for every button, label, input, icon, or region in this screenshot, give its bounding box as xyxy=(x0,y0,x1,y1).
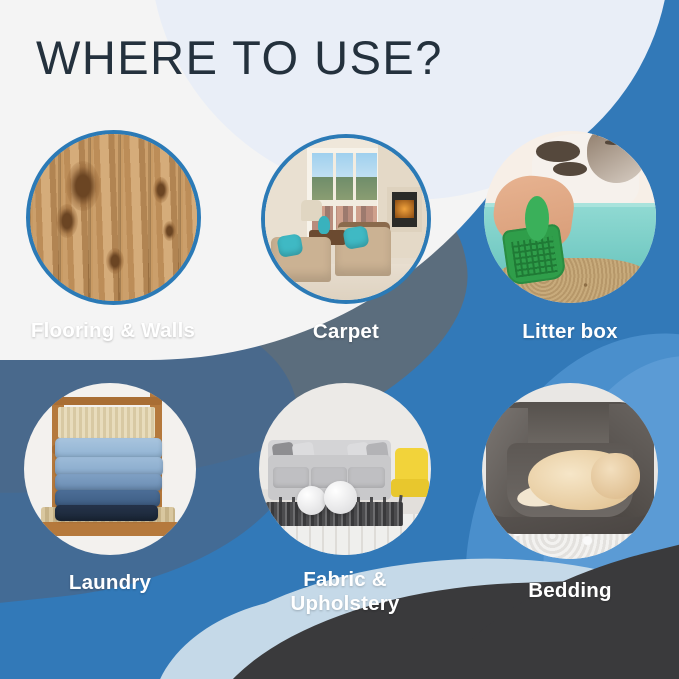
folded-denim-jeans-on-chair-photo xyxy=(24,383,196,555)
laundry-image-circle xyxy=(24,383,196,555)
use-case-flooring-and-walls[interactable]: Flooring & Walls xyxy=(3,130,223,343)
infographic-canvas: WHERE TO USE? Flooring & Walls xyxy=(0,0,679,679)
gray-sofa-yellow-chair-photo xyxy=(259,383,431,555)
use-case-fabric-and-upholstery[interactable]: Fabric & Upholstery xyxy=(235,383,455,616)
bedding-caption: Bedding xyxy=(460,579,679,603)
wood-plank-floor-photo xyxy=(30,134,197,301)
use-case-carpet[interactable]: Carpet xyxy=(236,134,456,344)
litter-box-caption: Litter box xyxy=(460,320,679,344)
living-room-carpet-photo xyxy=(265,138,427,300)
fabric-image-circle xyxy=(259,383,431,555)
flooring-image-circle xyxy=(26,130,201,305)
use-case-bedding[interactable]: Bedding xyxy=(460,383,679,603)
fabric-caption-line2: Upholstery xyxy=(290,592,399,615)
carpet-caption: Carpet xyxy=(236,320,456,344)
litter-box-image-circle xyxy=(484,131,656,303)
fabric-caption-line1: Fabric & xyxy=(303,568,387,591)
fabric-caption: Fabric & Upholstery xyxy=(235,568,455,616)
laundry-caption: Laundry xyxy=(0,571,220,595)
use-case-laundry[interactable]: Laundry xyxy=(0,383,220,595)
cat-sleeping-in-pet-bed-photo xyxy=(482,383,658,559)
carpet-image-circle xyxy=(261,134,431,304)
cat-litter-box-scoop-photo xyxy=(484,131,656,303)
page-title: WHERE TO USE? xyxy=(36,33,443,82)
background-charcoal-corner xyxy=(360,640,679,679)
use-case-litter-box[interactable]: Litter box xyxy=(460,131,679,344)
bedding-image-circle xyxy=(482,383,658,559)
flooring-caption: Flooring & Walls xyxy=(3,319,223,343)
